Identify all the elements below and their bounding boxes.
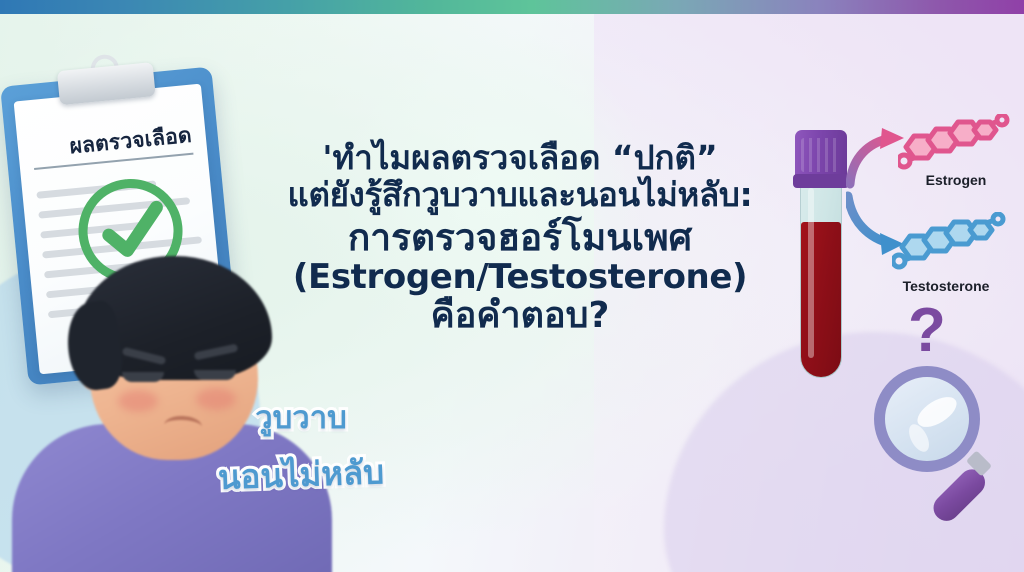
estrogen-molecule-icon [898,114,1010,180]
test-tube-highlight [808,188,814,358]
testosterone-label: Testosterone [876,278,1016,294]
test-tube-cap-lip [793,174,849,188]
headline-line-4: (Estrogen/Testosterone) [250,258,790,296]
estrogen-label: Estrogen [900,172,1012,188]
magnifier-lens [874,366,980,472]
headline-line-3: การตรวจฮอร์โมนเพศ [250,217,790,258]
person-cheek-left [118,390,158,412]
page-title: 'ทำไมผลตรวจเลือด “ปกติ” แต่ยังรู้สึกวูบว… [250,140,790,337]
headline-line-1: 'ทำไมผลตรวจเลือด “ปกติ” [250,140,790,177]
top-gradient-bar [0,0,1024,14]
person-eye-right [194,370,236,380]
magnifying-glass-icon [868,360,1018,520]
headline-line-2: แต่ยังรู้สึกวูบวาบและนอนไม่หลับ: [250,177,790,214]
testosterone-molecule-icon [892,212,1008,278]
blood-test-tube-icon [795,130,847,380]
test-tube-blood [801,222,841,377]
person-eye-left [122,372,164,382]
symptom-badge-insomnia: นอนไม่หลับ [195,444,407,504]
banner-canvas: ผลตรวจเลือด [0,0,1024,572]
symptom-badge-hot-flashes: วูบวาบ [196,392,406,442]
question-mark-icon: ? [908,300,946,362]
headline-line-5: คือคำตอบ? [250,296,790,336]
symptom-badge-group: วูบวาบ นอนไม่หลับ [196,392,406,501]
